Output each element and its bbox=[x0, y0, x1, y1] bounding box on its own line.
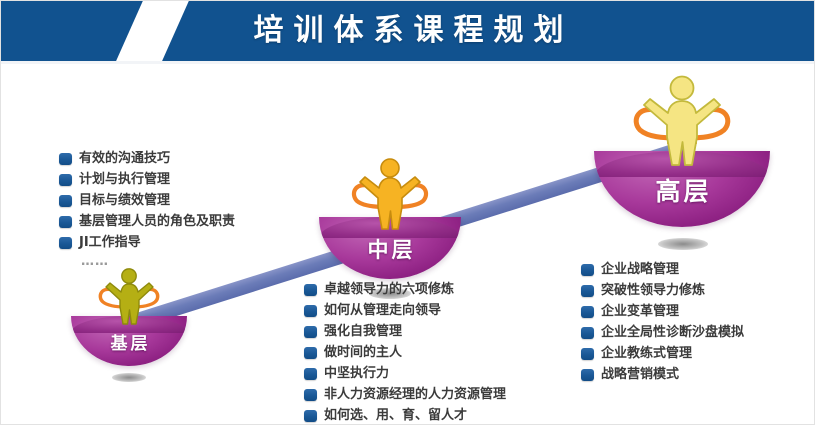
bullet-square-icon bbox=[304, 410, 317, 422]
list-item-label: 企业教练式管理 bbox=[601, 343, 692, 364]
bullet-square-icon bbox=[59, 153, 72, 165]
list-item[interactable]: 突破性领导力修炼 bbox=[581, 280, 744, 301]
level-label-base: 基层 bbox=[71, 329, 187, 354]
list-item[interactable]: 做时间的主人 bbox=[304, 342, 506, 363]
list-item-label: 突破性领导力修炼 bbox=[601, 280, 705, 301]
list-item-label: 非人力资源经理的人力资源管理 bbox=[324, 384, 506, 405]
bullet-square-icon bbox=[59, 237, 72, 249]
bullet-square-icon bbox=[59, 195, 72, 207]
node-shadow-top bbox=[658, 238, 708, 250]
bullet-square-icon bbox=[581, 306, 594, 318]
list-item[interactable]: 非人力资源经理的人力资源管理 bbox=[304, 384, 506, 405]
list-item-label: 中坚执行力 bbox=[324, 363, 389, 384]
page-title: 培训体系课程规划 bbox=[1, 1, 815, 61]
list-item[interactable]: 企业战略管理 bbox=[581, 259, 744, 280]
list-item[interactable]: 计划与执行管理 bbox=[59, 169, 235, 190]
list-item-label: 如何从管理走向领导 bbox=[324, 300, 441, 321]
list-item-label: 目标与绩效管理 bbox=[79, 190, 170, 211]
list-item-label: 企业变革管理 bbox=[601, 301, 679, 322]
bullet-square-icon bbox=[581, 348, 594, 360]
list-item-label: JI工作指导 bbox=[79, 232, 141, 253]
list-item-label: 企业全局性诊断沙盘模拟 bbox=[601, 322, 744, 343]
level-label-middle: 中层 bbox=[319, 234, 461, 264]
bullet-square-icon bbox=[581, 285, 594, 297]
list-item[interactable]: 企业全局性诊断沙盘模拟 bbox=[581, 322, 744, 343]
bullet-square-icon bbox=[59, 216, 72, 228]
list-item-label: 企业战略管理 bbox=[601, 259, 679, 280]
list-item[interactable]: 企业教练式管理 bbox=[581, 343, 744, 364]
slide-header: 培训体系课程规划 bbox=[1, 1, 815, 61]
list-item-label: 战略营销模式 bbox=[601, 364, 679, 385]
list-item-label: 如何选、用、育、留人才 bbox=[324, 405, 467, 425]
list-item[interactable]: 目标与绩效管理 bbox=[59, 190, 235, 211]
list-item-label: 卓越领导力的六项修炼 bbox=[324, 279, 454, 300]
person-figure-icon bbox=[93, 267, 165, 329]
level-node-base[interactable]: 基层 bbox=[71, 269, 187, 374]
bullet-square-icon bbox=[581, 369, 594, 381]
list-item[interactable]: 企业变革管理 bbox=[581, 301, 744, 322]
bullet-square-icon bbox=[304, 347, 317, 359]
node-shadow-base bbox=[112, 373, 146, 382]
list-item[interactable]: JI工作指导 bbox=[59, 232, 235, 253]
person-figure-icon bbox=[626, 74, 738, 172]
list-ellipsis: …… bbox=[81, 253, 235, 271]
level-label-top: 高层 bbox=[594, 172, 770, 208]
list-item-label: 强化自我管理 bbox=[324, 321, 402, 342]
list-item-label: 计划与执行管理 bbox=[79, 169, 170, 190]
list-item-label: 有效的沟通技巧 bbox=[79, 148, 170, 169]
bullet-square-icon bbox=[304, 368, 317, 380]
list-item-label: 做时间的主人 bbox=[324, 342, 402, 363]
list-item[interactable]: 有效的沟通技巧 bbox=[59, 148, 235, 169]
course-list-base: 有效的沟通技巧 计划与执行管理 目标与绩效管理 基层管理人员的角色及职责 JI工… bbox=[59, 148, 235, 271]
list-item[interactable]: 强化自我管理 bbox=[304, 321, 506, 342]
bullet-square-icon bbox=[581, 327, 594, 339]
slide-canvas: 培训体系课程规划 bbox=[0, 0, 815, 425]
bullet-square-icon bbox=[304, 305, 317, 317]
diagram-stage: 基层 中层 bbox=[1, 64, 815, 425]
list-item[interactable]: 战略营销模式 bbox=[581, 364, 744, 385]
course-list-middle: 卓越领导力的六项修炼 如何从管理走向领导 强化自我管理 做时间的主人 中坚执行力… bbox=[304, 279, 506, 425]
bullet-square-icon bbox=[304, 326, 317, 338]
list-item[interactable]: 卓越领导力的六项修炼 bbox=[304, 279, 506, 300]
list-item[interactable]: 如何从管理走向领导 bbox=[304, 300, 506, 321]
list-item-label: 基层管理人员的角色及职责 bbox=[79, 211, 235, 232]
course-list-top: 企业战略管理 突破性领导力修炼 企业变革管理 企业全局性诊断沙盘模拟 企业教练式… bbox=[581, 259, 744, 385]
list-item[interactable]: 中坚执行力 bbox=[304, 363, 506, 384]
bullet-square-icon bbox=[304, 389, 317, 401]
level-node-top[interactable]: 高层 bbox=[594, 78, 770, 233]
person-figure-icon bbox=[345, 157, 435, 235]
level-node-middle[interactable]: 中层 bbox=[319, 159, 461, 284]
list-item[interactable]: 基层管理人员的角色及职责 bbox=[59, 211, 235, 232]
list-item[interactable]: 如何选、用、育、留人才 bbox=[304, 405, 506, 425]
bullet-square-icon bbox=[304, 284, 317, 296]
bullet-square-icon bbox=[581, 264, 594, 276]
bullet-square-icon bbox=[59, 174, 72, 186]
